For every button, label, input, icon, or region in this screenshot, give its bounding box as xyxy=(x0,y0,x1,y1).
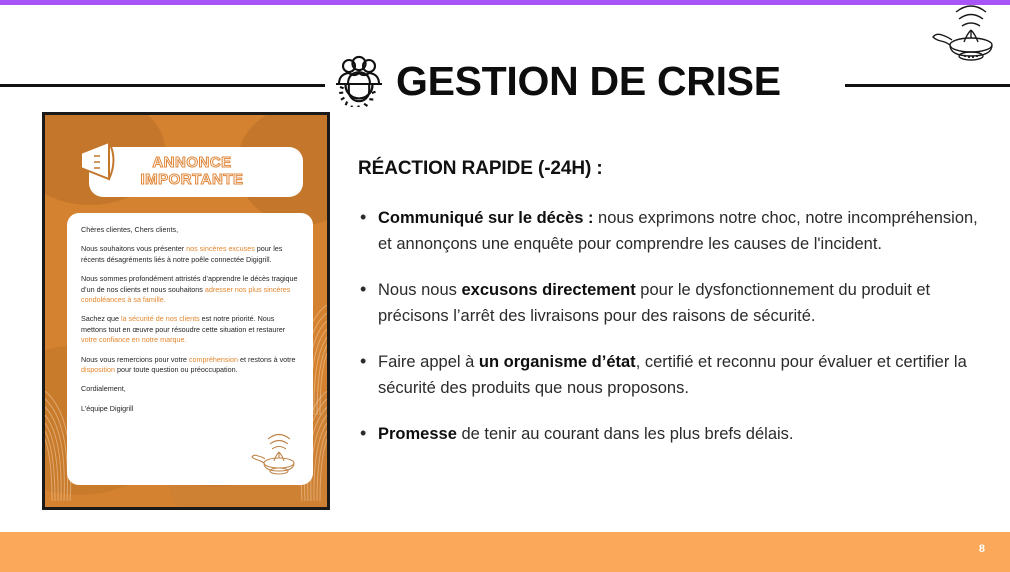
letter-closing: Cordialement, xyxy=(81,384,299,394)
letter-paragraph-4: Nous vous remercions pour votre compréhe… xyxy=(81,355,299,376)
announcement-poster-image: ANNONCE IMPORTANTE Chères clientes, Cher… xyxy=(42,112,330,510)
poster-letter-text: Chères clientes, Chers clients, Nous sou… xyxy=(67,213,313,485)
letter-p3-a: Sachez que xyxy=(81,314,121,323)
letter-p3-highlight: la sécurité de nos clients xyxy=(121,314,200,323)
section-subtitle: RÉACTION RAPIDE (-24H) : xyxy=(358,158,994,180)
bullet-4-lead: Promesse xyxy=(378,425,457,443)
team-gear-icon xyxy=(328,55,390,107)
banner-line-1: ANNONCE xyxy=(152,154,231,171)
header-rule-right xyxy=(845,84,1010,87)
list-item: Communiqué sur le décès : nous exprimons… xyxy=(358,206,994,257)
main-content: RÉACTION RAPIDE (-24H) : Communiqué sur … xyxy=(358,158,994,448)
connected-pan-logo xyxy=(930,4,1002,70)
bullet-4-rest: de tenir au courant dans les plus brefs … xyxy=(457,425,794,443)
letter-p3-highlight-2: votre confiance en notre marque. xyxy=(81,335,186,344)
bullet-1-lead: Communiqué sur le décès : xyxy=(378,209,593,227)
page-header: GESTION DE CRISE xyxy=(0,50,1010,112)
letter-p4-a: Nous vous remercions pour votre xyxy=(81,355,189,364)
letter-p4-highlight: compréhension xyxy=(189,355,238,364)
letter-paragraph-1: Nous souhaitons vous présenter nos sincè… xyxy=(81,244,299,265)
bullet-3-bold: un organisme d’état xyxy=(479,353,636,371)
letter-p4-b: et restons à votre xyxy=(238,355,296,364)
list-item: Faire appel à un organisme d’état, certi… xyxy=(358,350,994,401)
letter-paragraph-3: Sachez que la sécurité de nos clients es… xyxy=(81,314,299,345)
letter-p4-c: pour toute question ou préoccupation. xyxy=(115,365,238,374)
list-item: Nous nous excusons directement pour le d… xyxy=(358,278,994,329)
page-title: GESTION DE CRISE xyxy=(396,57,781,105)
page-number: 8 xyxy=(979,543,985,555)
bullet-2-bold: excusons directement xyxy=(461,281,635,299)
bullet-3-pre: Faire appel à xyxy=(378,353,479,371)
connected-pan-logo xyxy=(249,433,301,481)
letter-salutation: Chères clientes, Chers clients, xyxy=(81,225,299,235)
letter-paragraph-2: Nous sommes profondément attristés d’app… xyxy=(81,274,299,305)
letter-signature: L’équipe Digigrill xyxy=(81,404,299,414)
megaphone-icon xyxy=(61,139,123,189)
header-rule-left xyxy=(0,84,325,87)
bullet-list: Communiqué sur le décès : nous exprimons… xyxy=(358,206,994,448)
bullet-2-pre: Nous nous xyxy=(378,281,461,299)
letter-p1-highlight: nos sincères excuses xyxy=(186,244,255,253)
letter-p1-a: Nous souhaitons vous présenter xyxy=(81,244,186,253)
letter-p4-highlight-2: disposition xyxy=(81,365,115,374)
list-item: Promesse de tenir au courant dans les pl… xyxy=(358,422,994,448)
footer-bar: 8 xyxy=(0,532,1010,572)
banner-line-2: IMPORTANTE xyxy=(140,171,243,188)
top-accent-bar xyxy=(0,0,1010,5)
